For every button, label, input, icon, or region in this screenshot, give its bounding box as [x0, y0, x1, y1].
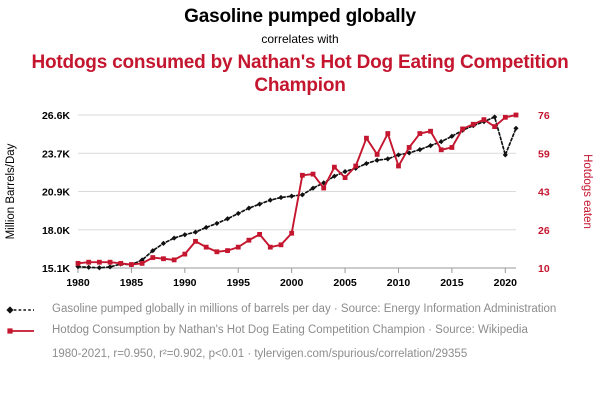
data-point-marker [107, 264, 112, 269]
left-tick-label: 23.7K [42, 148, 70, 160]
data-point-marker [279, 242, 284, 247]
data-point-marker [236, 245, 241, 250]
data-point-marker [513, 126, 518, 131]
data-point-marker [300, 192, 305, 197]
legend-item-gasoline: Gasoline pumped globally in millions of … [6, 302, 600, 317]
data-point-marker [311, 172, 316, 177]
x-tick-label: 1995 [227, 277, 251, 289]
data-point-marker [150, 255, 155, 260]
data-point-marker [108, 260, 113, 265]
data-point-marker [86, 265, 91, 270]
x-tick-label: 2010 [387, 277, 411, 289]
data-point-marker [439, 147, 444, 152]
data-point-marker [182, 252, 187, 257]
right-tick-label: 59 [538, 148, 550, 160]
data-point-marker [204, 225, 209, 230]
page-subtitle: Hotdogs consumed by Nathan's Hot Dog Eat… [0, 51, 600, 97]
solid-line-square-icon [6, 324, 52, 338]
data-point-marker [193, 239, 198, 244]
data-point-marker [140, 261, 145, 266]
data-point-marker [460, 127, 465, 132]
data-point-marker [428, 129, 433, 134]
legend-label-gasoline: Gasoline pumped globally in millions of … [52, 302, 556, 316]
right-axis-title: Hotdogs eaten [581, 154, 593, 229]
data-point-marker [321, 186, 326, 191]
data-point-marker [225, 248, 230, 253]
data-point-marker [257, 232, 262, 237]
legend-item-hotdog: Hotdog Consumption by Nathan's Hot Dog E… [6, 323, 600, 338]
data-point-marker [214, 221, 219, 226]
data-point-marker [118, 261, 123, 266]
right-tick-label: 26 [538, 225, 550, 237]
data-point-marker [289, 231, 294, 236]
legend-key-hotdog [6, 324, 52, 338]
left-tick-label: 20.9K [42, 187, 70, 199]
data-point-marker [417, 131, 422, 136]
data-point-marker [76, 261, 81, 266]
data-point-marker [161, 241, 166, 246]
left-tick-label: 15.1K [42, 263, 70, 275]
series-line-gasoline [78, 117, 516, 268]
data-point-marker [161, 256, 166, 261]
x-tick-label: 2015 [440, 277, 464, 289]
data-point-marker [514, 113, 519, 118]
data-point-marker [428, 143, 433, 148]
x-tick-label: 2000 [280, 277, 304, 289]
left-tick-label: 26.6K [42, 110, 70, 122]
x-tick-label: 2020 [494, 277, 518, 289]
correlation-line-chart: 15.1K18.0K20.9K23.7K26.6K 1026435976 198… [0, 100, 600, 300]
page-title: Gasoline pumped globally [0, 6, 600, 28]
data-point-marker [385, 156, 390, 161]
data-point-marker [86, 260, 91, 265]
data-point-marker [439, 139, 444, 144]
data-point-marker [97, 265, 102, 270]
data-point-marker [482, 117, 487, 122]
data-point-marker [385, 131, 390, 136]
dotted-line-diamond-icon [6, 303, 52, 317]
data-point-marker [193, 229, 198, 234]
x-tick-label: 2005 [333, 277, 357, 289]
right-axis-ticks: 1026435976 [538, 110, 550, 275]
data-point-marker [503, 115, 508, 120]
data-point-marker [268, 198, 273, 203]
data-point-marker [268, 245, 273, 250]
data-point-marker [278, 195, 283, 200]
data-point-marker [300, 173, 305, 178]
right-tick-label: 43 [538, 187, 550, 199]
data-point-marker [332, 165, 337, 170]
data-point-marker [407, 145, 412, 150]
data-point-marker [396, 164, 401, 169]
data-point-marker [289, 194, 294, 199]
data-point-marker [129, 262, 134, 267]
data-point-marker [417, 147, 422, 152]
data-point-marker [236, 211, 241, 216]
chart-area: 15.1K18.0K20.9K23.7K26.6K 1026435976 198… [0, 100, 600, 300]
data-point-marker [172, 257, 177, 262]
data-point-marker [343, 175, 348, 180]
data-point-marker [353, 164, 358, 169]
left-tick-label: 18.0K [42, 225, 70, 237]
data-point-marker [214, 249, 219, 254]
data-point-marker [364, 136, 369, 141]
correlation-footnote: 1980-2021, r=0.950, r²=0.902, p<0.01 · t… [6, 347, 600, 361]
title-connector: correlates with [0, 30, 600, 48]
title-block: Gasoline pumped globally correlates with… [0, 0, 600, 97]
right-tick-label: 10 [538, 263, 550, 275]
left-axis-ticks: 15.1K18.0K20.9K23.7K26.6K [42, 110, 70, 275]
x-axis-ticks: 198019851990199520002005201020152020 [66, 268, 517, 289]
data-point-marker [364, 161, 369, 166]
data-point-marker [182, 232, 187, 237]
spurious-correlation-chart: Gasoline pumped globally correlates with… [0, 0, 600, 414]
legend-label-hotdog: Hotdog Consumption by Nathan's Hot Dog E… [52, 323, 528, 337]
data-point-marker [257, 202, 262, 207]
x-tick-label: 1990 [173, 277, 197, 289]
right-tick-label: 76 [538, 110, 550, 122]
data-point-marker [375, 158, 380, 163]
legend-key-gasoline [6, 303, 52, 317]
data-point-marker [450, 145, 455, 150]
data-point-marker [97, 260, 102, 265]
chart-footer: Gasoline pumped globally in millions of … [0, 302, 600, 361]
x-tick-label: 1985 [120, 277, 144, 289]
data-point-marker [471, 122, 476, 127]
x-tick-label: 1980 [66, 277, 90, 289]
data-point-marker [204, 245, 209, 250]
data-point-marker [342, 169, 347, 174]
data-point-marker [247, 238, 252, 243]
data-point-marker [492, 124, 497, 129]
left-axis-title: Million Barrels/Day [5, 143, 17, 239]
data-point-marker [375, 152, 380, 157]
